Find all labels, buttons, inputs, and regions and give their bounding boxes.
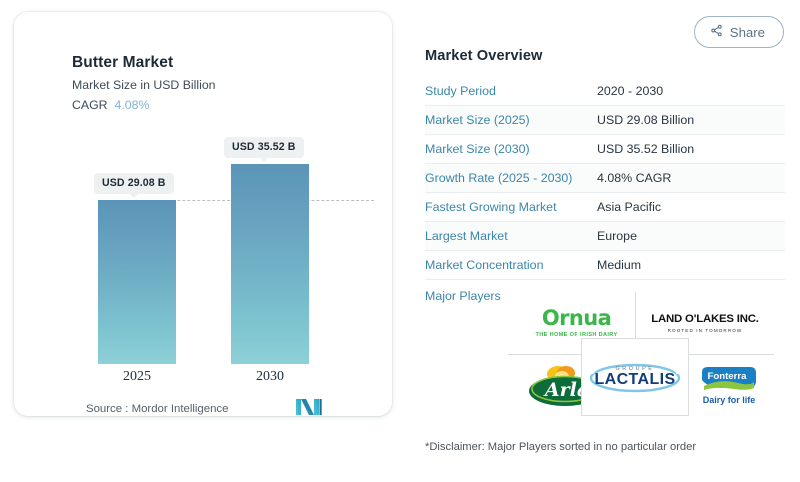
table-row: Growth Rate (2025 - 2030) 4.08% CAGR [425, 164, 785, 193]
chart-title: Butter Market [72, 54, 173, 72]
row-label: Market Size (2025) [425, 113, 597, 127]
chart-card: Butter Market Market Size in USD Billion… [14, 12, 392, 416]
cagr-value: 4.08% [115, 98, 150, 112]
fonterra-tagline: Dairy for life [703, 395, 756, 405]
row-value: Medium [597, 258, 641, 272]
ornua-wordmark: Ornua [542, 308, 611, 329]
logo-lactalis: GROUPE LACTALIS [581, 338, 689, 416]
logo-fonterra: Fonterra Dairy for life [684, 354, 774, 416]
share-button[interactable]: Share [694, 16, 784, 48]
table-row: Fastest Growing Market Asia Pacific [425, 193, 785, 222]
share-nodes-icon [710, 24, 723, 40]
table-row: Market Size (2030) USD 35.52 Billion [425, 135, 785, 164]
bar-2025[interactable] [98, 200, 176, 364]
land-o-lakes-text: LAND O'LAKES INC. [651, 313, 759, 325]
share-button-label: Share [730, 25, 765, 40]
market-overview-panel: Market Overview Study Period 2020 - 2030… [425, 48, 785, 303]
row-value: Asia Pacific [597, 200, 661, 214]
x-axis-labels: 2025 2030 [72, 369, 360, 389]
bar-label-2025: USD 29.08 B [94, 173, 174, 194]
chart-subtitle: Market Size in USD Billion [72, 78, 216, 92]
bar-chart-plot: USD 29.08 B USD 35.52 B [72, 132, 360, 364]
major-players-logo-grid: Ornua THE HOME OF IRISH DAIRY LAND O'LAK… [508, 292, 774, 424]
row-label: Fastest Growing Market [425, 200, 597, 214]
row-value: Europe [597, 229, 637, 243]
market-summary-page: Share Butter Market Market Size in USD B… [0, 0, 800, 482]
table-row: Market Concentration Medium [425, 251, 785, 280]
land-o-lakes-wordmark: LAND O'LAKES INC. [651, 313, 759, 325]
cagr-row: CAGR 4.08% [72, 98, 149, 112]
row-label: Study Period [425, 84, 597, 98]
fonterra-wordmark: Fonterra [698, 371, 756, 382]
table-row: Study Period 2020 - 2030 [425, 77, 785, 106]
table-row: Market Size (2025) USD 29.08 Billion [425, 106, 785, 135]
mordor-intelligence-logo [296, 399, 322, 420]
x-tick-2025: 2025 [98, 369, 176, 385]
row-value: USD 35.52 Billion [597, 142, 694, 156]
disclaimer-text: *Disclaimer: Major Players sorted in no … [425, 441, 696, 453]
bar-2030[interactable] [231, 164, 309, 364]
row-value: 2020 - 2030 [597, 84, 663, 98]
cagr-label: CAGR [72, 98, 108, 112]
land-o-lakes-tagline: ROOTED IN TOMORROW [668, 328, 743, 333]
row-label: Growth Rate (2025 - 2030) [425, 171, 597, 185]
table-row: Largest Market Europe [425, 222, 785, 251]
overview-title: Market Overview [425, 48, 785, 64]
row-label: Largest Market [425, 229, 597, 243]
row-label: Market Size (2030) [425, 142, 597, 156]
row-label: Market Concentration [425, 258, 597, 272]
source-text: Source : Mordor Intelligence [86, 403, 228, 415]
row-value: 4.08% CAGR [597, 171, 671, 185]
row-value: USD 29.08 Billion [597, 113, 694, 127]
lactalis-wordmark: LACTALIS [594, 372, 675, 388]
bar-label-2030: USD 35.52 B [224, 137, 304, 158]
x-tick-2030: 2030 [231, 369, 309, 385]
